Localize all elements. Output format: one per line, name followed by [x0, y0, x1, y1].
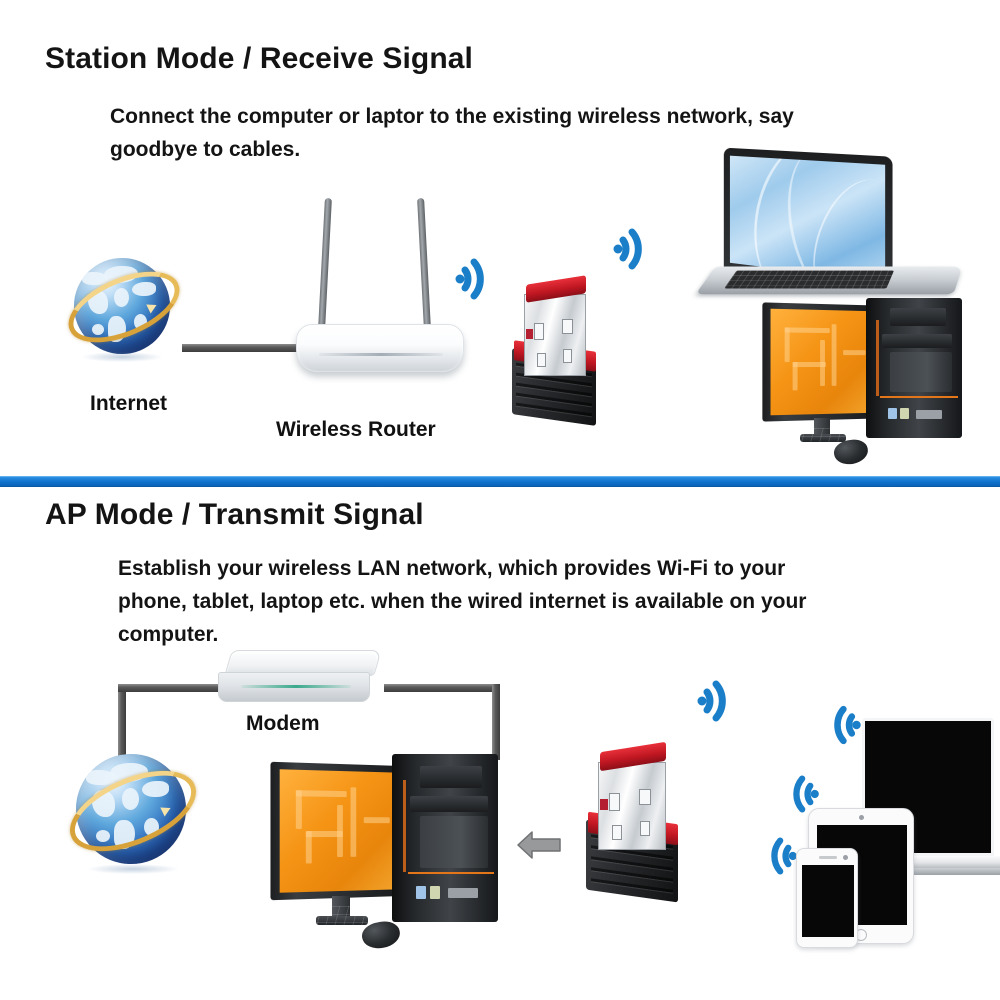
usb-connector	[524, 294, 586, 376]
modem-front-face	[218, 672, 370, 702]
monitor	[762, 302, 880, 421]
left-arrow-icon	[516, 828, 562, 867]
laptop-screen	[730, 156, 885, 282]
monitor-screen	[771, 309, 873, 416]
pc-tower	[392, 754, 498, 922]
phone-speaker	[819, 856, 837, 859]
cable-internet-to-router	[182, 344, 304, 352]
wireless-router-label: Wireless Router	[276, 418, 436, 442]
cable-modem-to-pc-horizontal	[384, 684, 500, 692]
tower-accent-line	[408, 872, 494, 874]
usb-wifi-adapter	[582, 744, 692, 904]
internet-label: Internet	[90, 392, 167, 416]
tablet-camera-icon	[859, 815, 864, 820]
wifi-signal-icon	[694, 670, 756, 732]
wifi-signal-icon	[610, 218, 672, 280]
laptop	[706, 152, 972, 312]
laptop-keyboard	[724, 270, 894, 288]
smartphone	[796, 848, 858, 948]
router-body	[296, 324, 464, 372]
wireless-router	[290, 196, 470, 376]
tower-accent-line	[880, 396, 958, 398]
ap-mode-heading: AP Mode / Transmit Signal	[45, 498, 424, 532]
desktop-computer	[738, 292, 990, 470]
wifi-signal-icon	[744, 828, 800, 884]
usb-wifi-adapter	[508, 276, 608, 428]
section-divider	[0, 476, 1000, 487]
usb-connector	[598, 762, 666, 850]
wifi-signal-icon	[452, 248, 514, 310]
station-mode-heading: Station Mode / Receive Signal	[45, 42, 473, 76]
modem-status-leds	[241, 685, 351, 688]
ap-mode-body: Establish your wireless LAN network, whi…	[118, 552, 818, 651]
globe-shadow	[88, 864, 178, 874]
phone-camera-icon	[843, 855, 848, 860]
modem	[206, 648, 392, 720]
globe-shadow	[82, 352, 162, 362]
phone-screen	[802, 865, 854, 937]
wifi-signal-icon	[806, 696, 864, 754]
pc-tower	[866, 298, 962, 438]
modem-label: Modem	[246, 712, 320, 736]
globe-internet-icon	[66, 252, 178, 364]
laptop-base	[695, 266, 962, 294]
cable-modem-to-internet-vertical	[118, 684, 126, 756]
monitor-screen	[280, 769, 397, 892]
infographic-page: Station Mode / Receive Signal Connect th…	[0, 0, 1000, 1000]
desktop-computer	[254, 750, 522, 950]
globe-internet-icon	[68, 748, 196, 876]
cable-modem-to-pc-vertical	[492, 684, 500, 760]
monitor	[270, 762, 405, 900]
